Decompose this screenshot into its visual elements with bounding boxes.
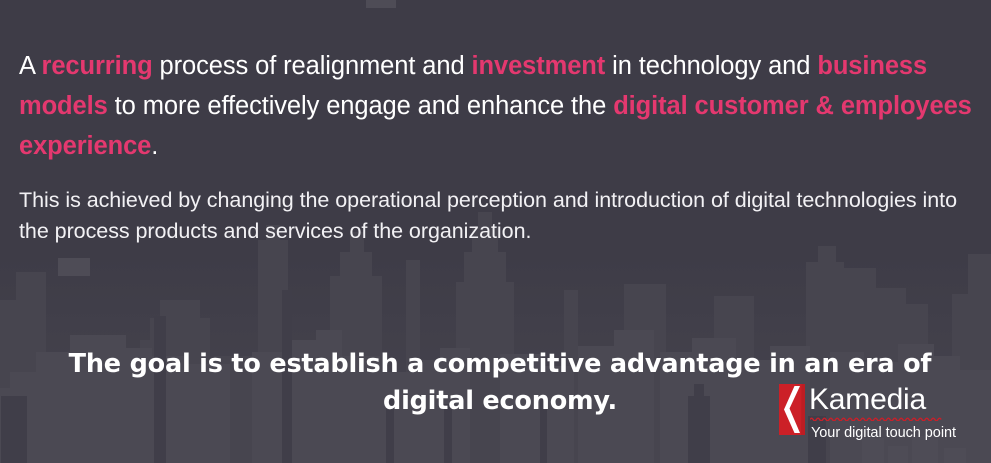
slide-content: A recurring process of realignment and i… [0,0,991,463]
kamedia-tagline: Your digital touch point [811,424,956,443]
kamedia-wordmark: Kamedia [809,384,956,417]
supporting-paragraph: This is achieved by changing the operati… [19,185,984,247]
kamedia-k-mark-icon [779,384,805,435]
lead-text-1: A [19,52,42,80]
kamedia-logo-text: Kamedia Your digital touch point [809,384,956,443]
highlight-recurring: recurring [42,52,153,80]
lead-text-2: process of realignment and [153,52,472,80]
lead-text-5: . [151,132,158,160]
slide-root: A recurring process of realignment and i… [0,0,991,463]
highlight-investment: investment [472,52,606,80]
kamedia-logo: Kamedia Your digital touch point [779,384,979,442]
lead-text-4: to more effectively engage and enhance t… [108,92,614,120]
lead-text-3: in technology and [605,52,817,80]
lead-paragraph: A recurring process of realignment and i… [19,46,979,166]
